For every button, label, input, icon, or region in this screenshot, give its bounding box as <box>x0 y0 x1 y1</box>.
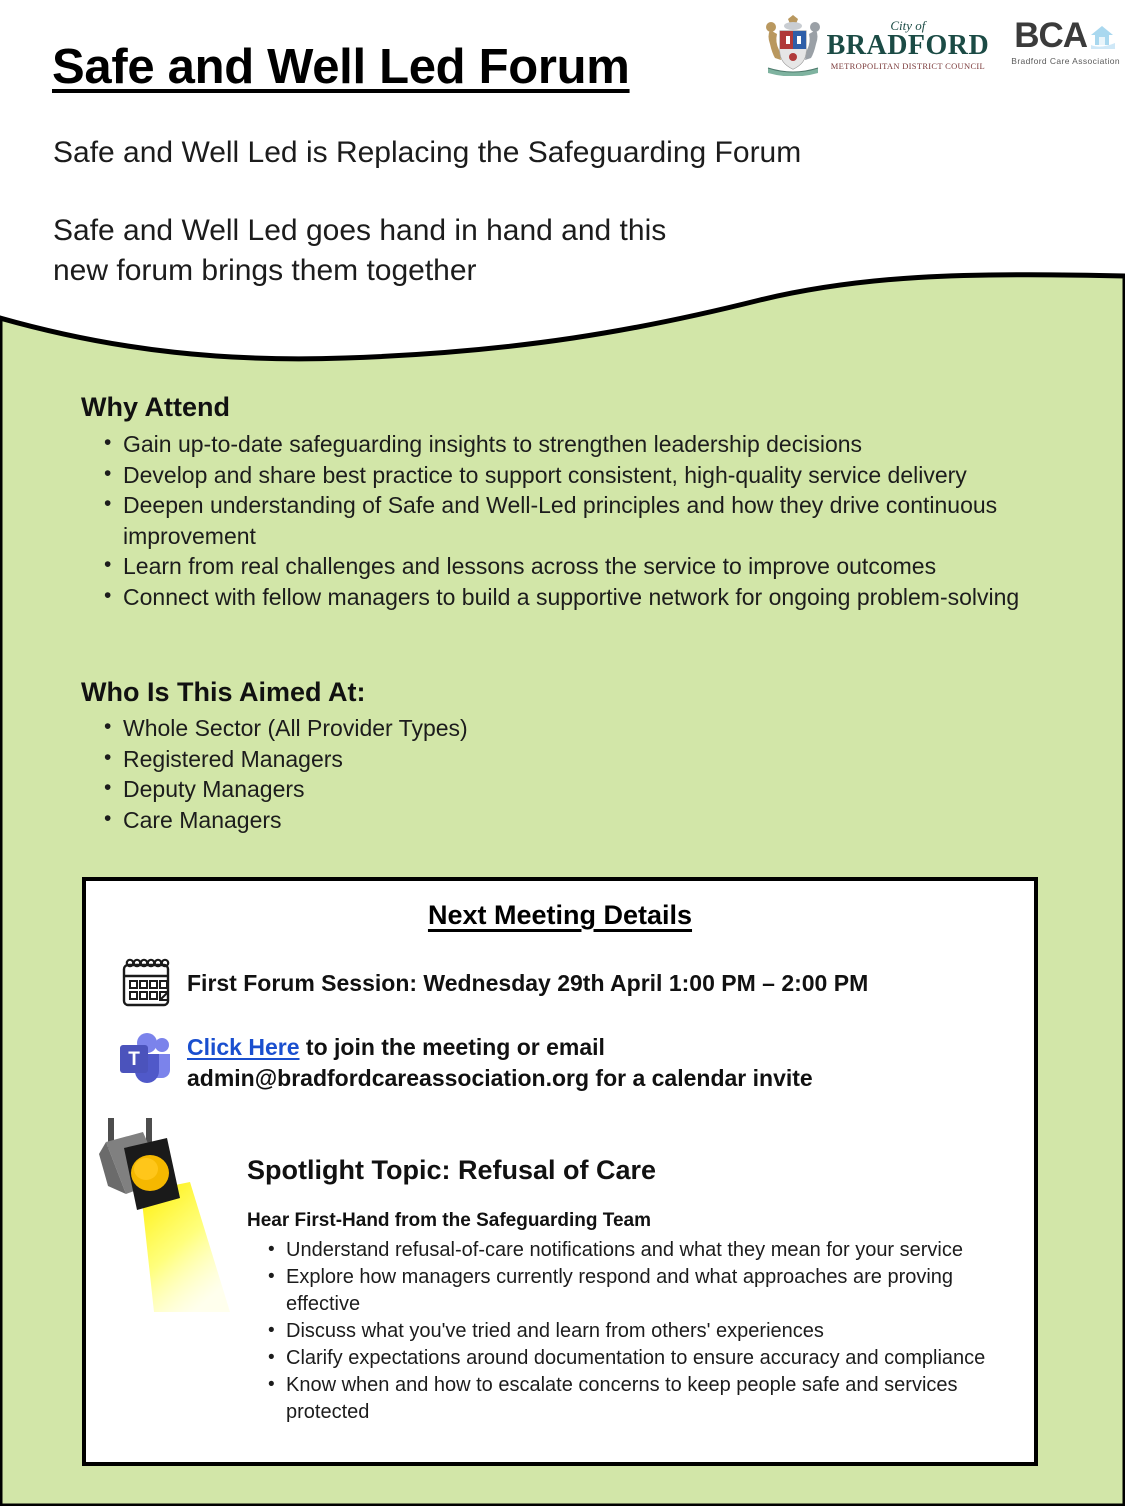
list-item: Discuss what you've tried and learn from… <box>264 1318 1024 1345</box>
calendar-icon-wrap <box>105 954 187 1016</box>
subtitle-secondary-line-1: Safe and Well Led goes hand in hand and … <box>53 214 666 247</box>
page-title: Safe and Well Led Forum <box>52 39 630 95</box>
spotlight-topic-list: Understand refusal-of-care notifications… <box>264 1237 1024 1426</box>
bca-wordmark: BCA <box>1014 18 1087 53</box>
list-item: Connect with fellow managers to build a … <box>100 582 1060 613</box>
calendar-icon <box>115 954 177 1016</box>
meeting-session-text: First Forum Session: Wednesday 29th Apri… <box>187 954 868 999</box>
meeting-join-text: Click Here to join the meeting or email … <box>187 1029 813 1094</box>
who-is-this-aimed-at-heading: Who Is This Aimed At: <box>81 677 366 708</box>
bca-subtext: Bradford Care Association <box>1011 56 1120 66</box>
meeting-join-text-rest: to join the meeting or email <box>300 1034 605 1060</box>
microsoft-teams-icon: T <box>115 1029 177 1091</box>
bradford-subtext: METROPOLITAN DISTRICT COUNCIL <box>831 62 985 71</box>
meeting-date-row: First Forum Session: Wednesday 29th Apri… <box>105 954 868 1016</box>
list-item: Care Managers <box>100 805 800 836</box>
next-meeting-details-box: Next Meeting Details <box>82 877 1038 1466</box>
spotlight-subheading: Hear First-Hand from the Safeguarding Te… <box>247 1210 651 1232</box>
bca-logo-top: BCA <box>1014 18 1117 53</box>
list-item: Learn from real challenges and lessons a… <box>100 551 1060 582</box>
list-item: Clarify expectations around documentatio… <box>264 1345 1024 1372</box>
subtitle-secondary-line-2: new forum brings them together <box>53 254 477 287</box>
list-item: Explore how managers currently respond a… <box>264 1264 1024 1318</box>
logo-row: City of BRADFORD METROPOLITAN DISTRICT C… <box>764 14 1120 76</box>
list-item: Gain up-to-date safeguarding insights to… <box>100 429 1060 460</box>
teams-icon-wrap: T <box>105 1029 187 1091</box>
city-of-bradford-logo: City of BRADFORD METROPOLITAN DISTRICT C… <box>764 14 990 76</box>
meeting-join-row: T Click Here to join the meeting or emai… <box>105 1029 813 1094</box>
subtitle-secondary: Safe and Well Led goes hand in hand and … <box>53 211 666 291</box>
list-item: Understand refusal-of-care notifications… <box>264 1237 1024 1264</box>
why-attend-heading: Why Attend <box>81 392 230 423</box>
bradford-wordmark: BRADFORD <box>827 33 990 60</box>
poster-page: Safe and Well Led Forum Safe and Well Le… <box>0 0 1125 1506</box>
list-item: Deputy Managers <box>100 774 800 805</box>
bradford-coat-of-arms-icon <box>764 14 822 76</box>
why-attend-list: Gain up-to-date safeguarding insights to… <box>100 429 1060 612</box>
list-item: Deepen understanding of Safe and Well-Le… <box>100 490 1060 551</box>
meeting-email-text: admin@bradfordcareassociation.org for a … <box>187 1065 813 1091</box>
svg-text:T: T <box>128 1049 140 1070</box>
who-is-this-aimed-at-list: Whole Sector (All Provider Types) Regist… <box>100 713 800 835</box>
list-item: Registered Managers <box>100 744 800 775</box>
next-meeting-details-heading: Next Meeting Details <box>86 900 1034 931</box>
bca-logo: BCA Bradford Care Association <box>1011 14 1120 66</box>
list-item: Whole Sector (All Provider Types) <box>100 713 800 744</box>
spotlight-topic-heading: Spotlight Topic: Refusal of Care <box>247 1155 656 1186</box>
bca-house-icon <box>1087 21 1117 51</box>
subtitle-primary: Safe and Well Led is Replacing the Safeg… <box>53 136 801 170</box>
list-item: Know when and how to escalate concerns t… <box>264 1372 1024 1426</box>
list-item: Develop and share best practice to suppo… <box>100 460 1060 491</box>
click-here-link[interactable]: Click Here <box>187 1034 300 1060</box>
